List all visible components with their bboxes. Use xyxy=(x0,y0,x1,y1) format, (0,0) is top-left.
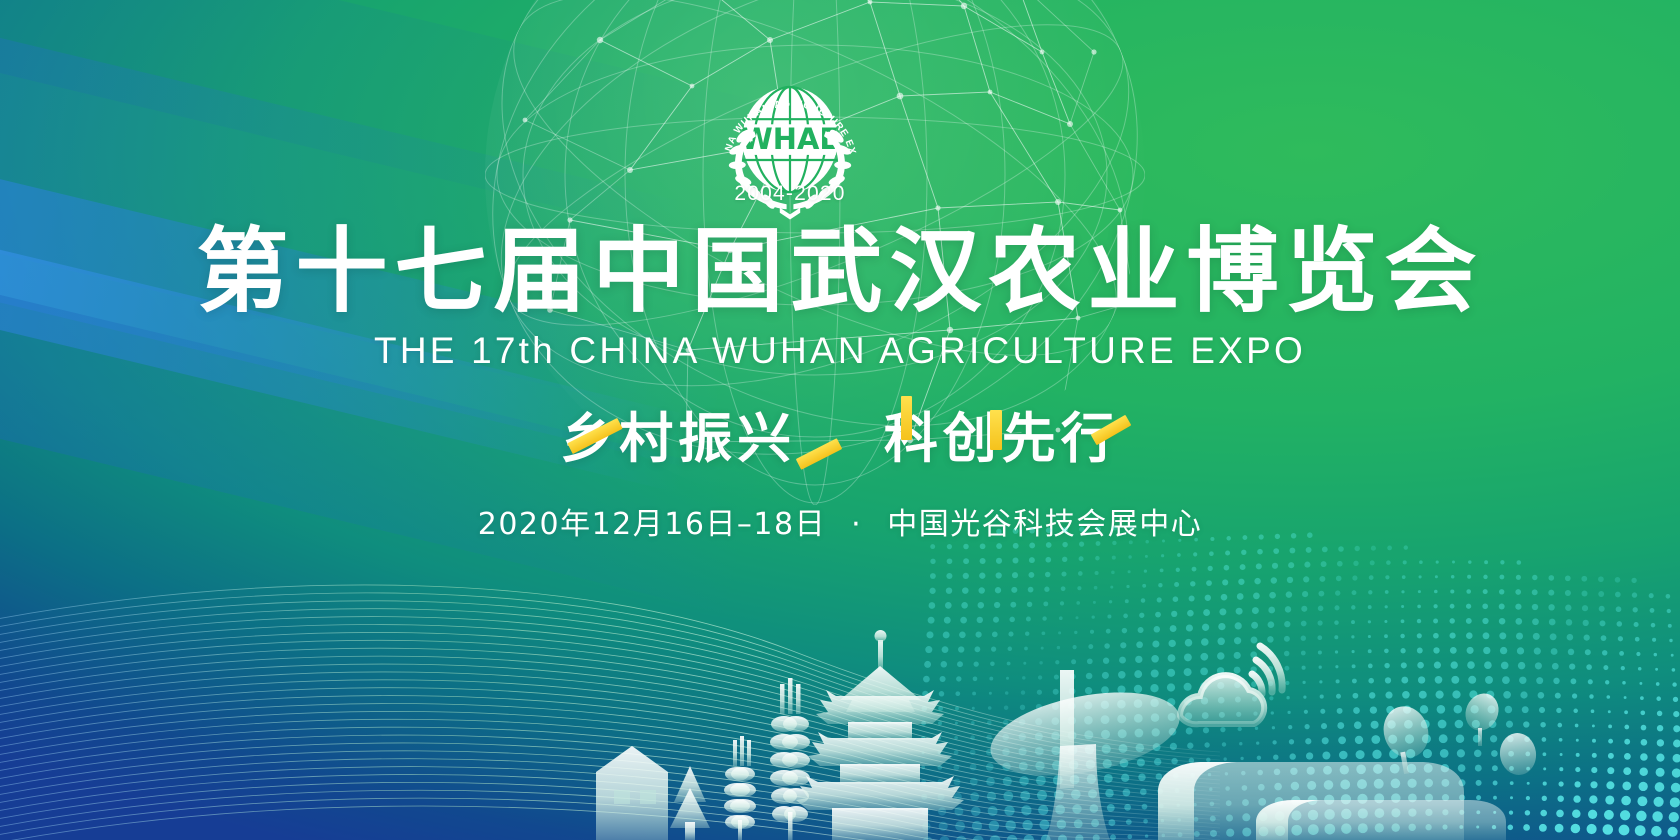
optics-valley-tower-icon xyxy=(984,678,1187,840)
page-title-en: THE 17th CHINA WUHAN AGRICULTURE EXPO xyxy=(0,330,1680,372)
flowing-line-mesh-wave xyxy=(0,530,1220,840)
expo-banner: WHAE CHINA WUHAN AGRICULTURE EXPO xyxy=(0,0,1680,840)
title-block: 第十七届中国武汉农业博览会 THE 17th CHINA WUHAN AGRIC… xyxy=(0,222,1680,543)
slogan-part-1: 乡村振兴 xyxy=(560,407,796,470)
yellow-crane-tower-icon xyxy=(796,630,964,840)
greenhouse-large-icon xyxy=(1158,762,1464,840)
date-venue-line: 2020年12月16日–18日 · 中国光谷科技会展中心 xyxy=(0,499,1680,543)
logo-years: 2004-2020 xyxy=(705,182,875,206)
slogan-accent-stroke xyxy=(796,439,842,471)
page-title-cn: 第十七届中国武汉农业博览会 xyxy=(0,222,1680,321)
wheat-stalk-tall-icon xyxy=(770,678,810,840)
slogan-part-2: 科创先行 xyxy=(884,407,1120,470)
skyline-illustration xyxy=(540,540,1540,840)
satellite-dish-icon xyxy=(1377,688,1539,777)
logo-monogram-text: WHAE xyxy=(741,122,839,156)
event-venue: 中国光谷科技会展中心 xyxy=(887,507,1202,542)
event-date: 2020年12月16日–18日 xyxy=(478,507,826,542)
slogan: 乡村振兴 科创先行 xyxy=(560,394,1120,473)
farm-house-icon xyxy=(596,746,668,840)
separator-dot: · xyxy=(851,507,862,542)
antenna-mast-icon xyxy=(1060,670,1074,788)
cloud-wifi-icon xyxy=(1180,646,1282,724)
pine-tree-icon xyxy=(670,766,710,840)
greenhouse-small-icon xyxy=(1256,800,1506,840)
wheat-stalk-short-icon xyxy=(724,736,756,840)
